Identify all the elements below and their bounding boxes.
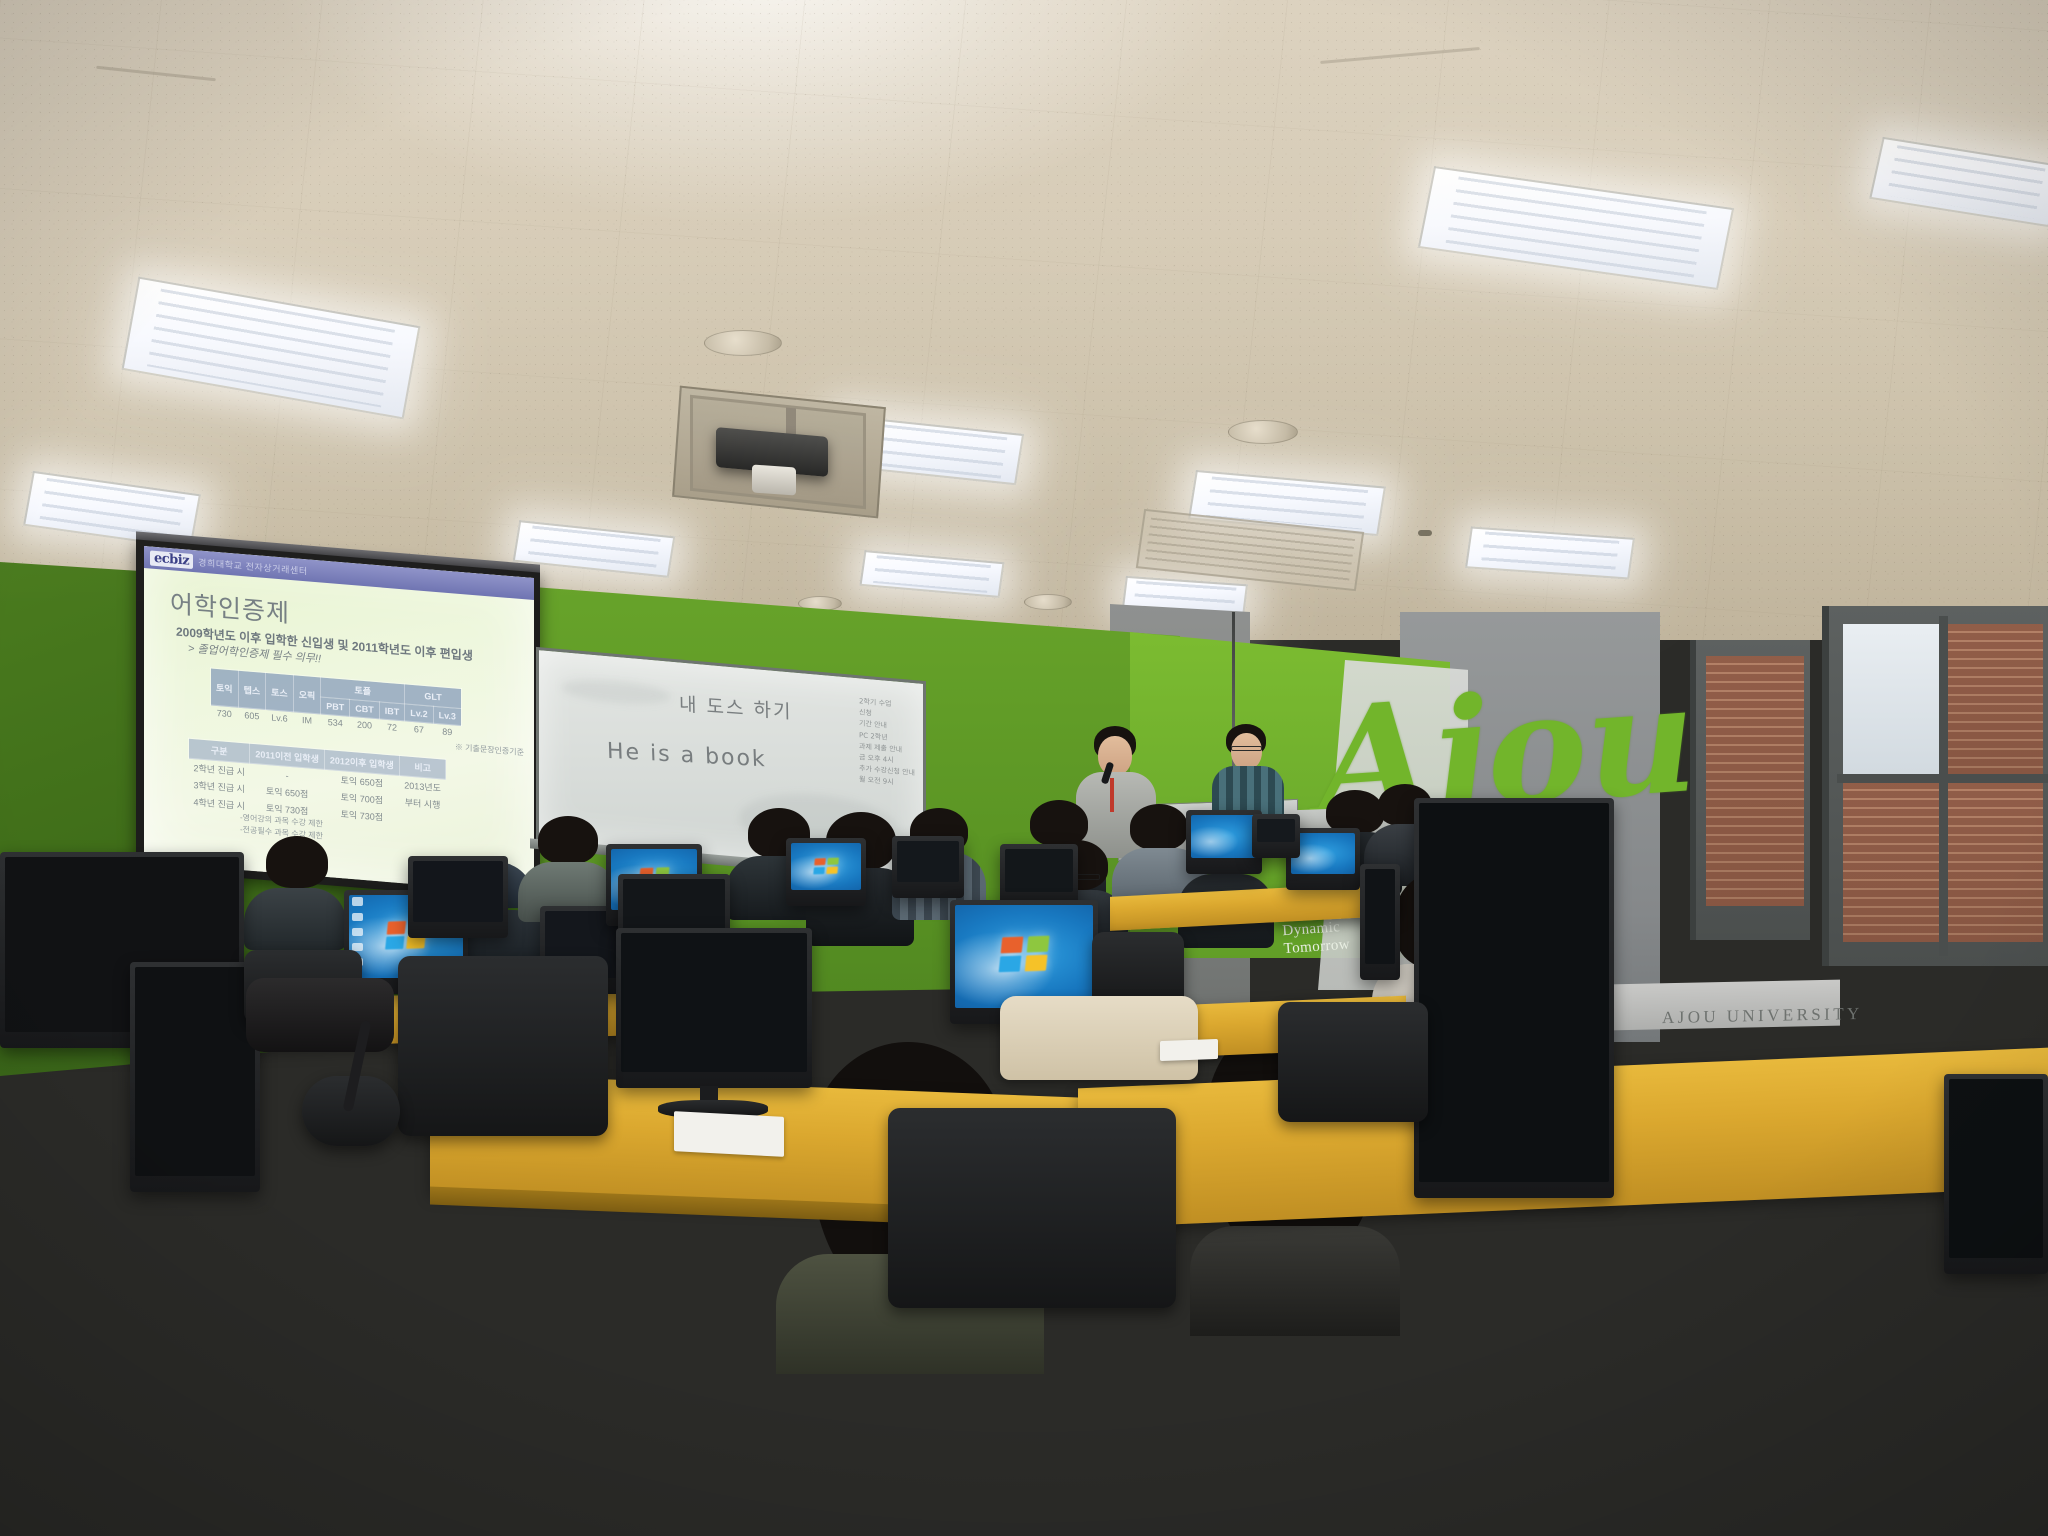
windows-logo-icon (813, 857, 839, 874)
slide-requirements-table: 구분 2011이전 입학생 2012이후 입학생 비고 2학년 진급 시 - 토… (188, 738, 446, 831)
beige-handbag[interactable] (1000, 996, 1198, 1080)
window-pane-lower-left (1843, 782, 1939, 942)
window-pane-lower-right (1947, 782, 2043, 942)
monitor-screen-off (135, 967, 255, 1176)
monitor-center-off-4[interactable] (1000, 844, 1078, 908)
td-tosu: Lv.6 (266, 709, 294, 726)
exterior-brick-wall-4 (1706, 656, 1804, 906)
windows7-wallpaper (955, 905, 1093, 1008)
whiteboard-smudge-1 (561, 676, 671, 708)
th-tosu: 토스 (266, 672, 294, 711)
monitor-screen (1291, 833, 1355, 874)
monitor-screen-off (413, 861, 503, 922)
ceiling-dome-speaker-2 (1228, 420, 1298, 444)
window-mullion-vertical (1939, 616, 1948, 956)
exterior-brick-wall (1947, 624, 2043, 774)
desktop-icon[interactable] (352, 897, 362, 905)
monitor-foreground-far-right[interactable] (1944, 1074, 2048, 1274)
ceiling-dome-speaker-3 (1024, 594, 1072, 610)
chair-foreground-right[interactable] (1278, 1002, 1428, 1122)
td-toeic: 730 (211, 705, 239, 722)
assistant-face (1231, 733, 1262, 770)
td-pbt: 534 (321, 714, 350, 731)
student-hair (538, 816, 598, 864)
th-opic: 오픽 (293, 675, 321, 714)
student-torso (1190, 1226, 1400, 1336)
monitor-screen-off (1419, 803, 1609, 1182)
window-sky (1843, 624, 1939, 774)
sprinkler-head-4 (1418, 530, 1432, 536)
td-opic: IM (293, 712, 321, 729)
whiteboard-text-line2: He is a book (607, 739, 768, 773)
slide-score-table: 토익 텝스 토스 오픽 토플 GLT PBT CBT IBT Lv.2 Lv.3… (210, 667, 462, 740)
windows7-wallpaper (1291, 833, 1355, 874)
desktop-icon[interactable] (352, 913, 362, 921)
windows-logo-red (387, 921, 406, 934)
windows-logo-yellow (826, 866, 838, 874)
windows7-wallpaper (1191, 815, 1257, 858)
exterior-brick-wall-3 (1947, 782, 2043, 942)
black-backpack[interactable] (246, 978, 394, 1052)
td-lv3: 89 (433, 723, 461, 740)
monitor-screen (955, 905, 1093, 1008)
presenter-face (1098, 736, 1132, 776)
td-cbt: 200 (350, 716, 380, 733)
monitor-center-off-3[interactable] (892, 836, 964, 898)
whiteboard-corner-notes: 2학기 수업 신청 기간 안내 PC 2학년 과제 제출 안내 금 오후 4시 … (859, 696, 915, 790)
windows-logo-blue (999, 956, 1022, 973)
paper-sheet-right[interactable] (1160, 1039, 1218, 1061)
windows-logo-blue (813, 866, 825, 874)
assistant-glasses (1231, 746, 1262, 751)
td-ibt: 72 (379, 719, 405, 736)
whiteboard-text-line1: 내 도스 하기 (679, 689, 793, 724)
monitor-left-off-1[interactable] (408, 856, 508, 938)
windows-logo-green (1026, 936, 1049, 953)
windows7-wallpaper (791, 843, 861, 890)
th-toeic: 토익 (211, 668, 239, 707)
ecbiz-logo: ecbiz (150, 550, 193, 569)
td-lv2: 67 (405, 721, 433, 738)
window-pane-upper (1843, 624, 1939, 774)
desktop-icon[interactable] (352, 943, 362, 951)
student-hair (266, 836, 328, 888)
windows-logo-yellow (1024, 955, 1047, 972)
monitor-foreground-right[interactable] (1414, 798, 1614, 1198)
window-mullion-horizontal (1837, 774, 2048, 783)
chair-foreground-left[interactable] (398, 956, 608, 1136)
monitor-screen-off (621, 933, 807, 1072)
classroom-photo: AJOU UNIVERSITY Ajou Dynamic Tomorrow ec… (0, 0, 2048, 1536)
monitor-screen-off (1949, 1079, 2043, 1258)
windows-logo-blue (385, 936, 404, 949)
monitor-screen-off (1005, 849, 1073, 892)
monitor-right-off-1[interactable] (1252, 814, 1300, 858)
university-name-label: AJOU UNIVERSITY (1662, 1004, 1863, 1028)
monitor-screen-off (1257, 819, 1295, 842)
td-teps: 605 (238, 707, 266, 724)
exterior-brick-wall-2 (1843, 782, 1939, 942)
student-torso (244, 888, 346, 950)
monitor-right-win7-1[interactable] (1186, 810, 1262, 874)
window-frame-secondary (1690, 640, 1810, 940)
windows-logo-red (1001, 937, 1024, 954)
monitor-screen-off (1365, 869, 1395, 964)
window-pane-building (1947, 624, 2043, 774)
th-ibt: IBT (379, 702, 405, 721)
monitor-center-off-2[interactable] (616, 928, 812, 1088)
paper-sheet-on-desk[interactable] (674, 1111, 784, 1157)
student-back-left-3 (518, 816, 618, 920)
monitor-screen (1191, 815, 1257, 858)
ceiling-dome-speaker-1 (704, 330, 782, 356)
student-back-left-1 (244, 836, 346, 946)
monitor-foreground-bottom-left[interactable] (130, 962, 260, 1192)
td-grade4-remark (399, 810, 446, 831)
chair-foreground-center[interactable] (888, 1108, 1176, 1308)
projector-lens (752, 464, 796, 495)
slide-header-subtitle: 경희대학교 전자상거래센터 (198, 555, 308, 577)
windows-logo-green (827, 857, 839, 865)
desktop-icon[interactable] (352, 928, 362, 936)
monitor-right-off-2[interactable] (1360, 864, 1400, 980)
slide-score-footnote: ※ 기출문장인증기준 (455, 742, 524, 759)
monitor-center-win7-2[interactable] (786, 838, 866, 906)
windows-logo-icon (999, 936, 1050, 973)
monitor-screen (791, 843, 861, 890)
window-pane-secondary (1706, 656, 1804, 906)
th-teps: 텝스 (238, 670, 266, 709)
window-frame (1822, 606, 2048, 966)
windows-logo-red (814, 858, 826, 866)
monitor-screen-off (897, 841, 959, 882)
